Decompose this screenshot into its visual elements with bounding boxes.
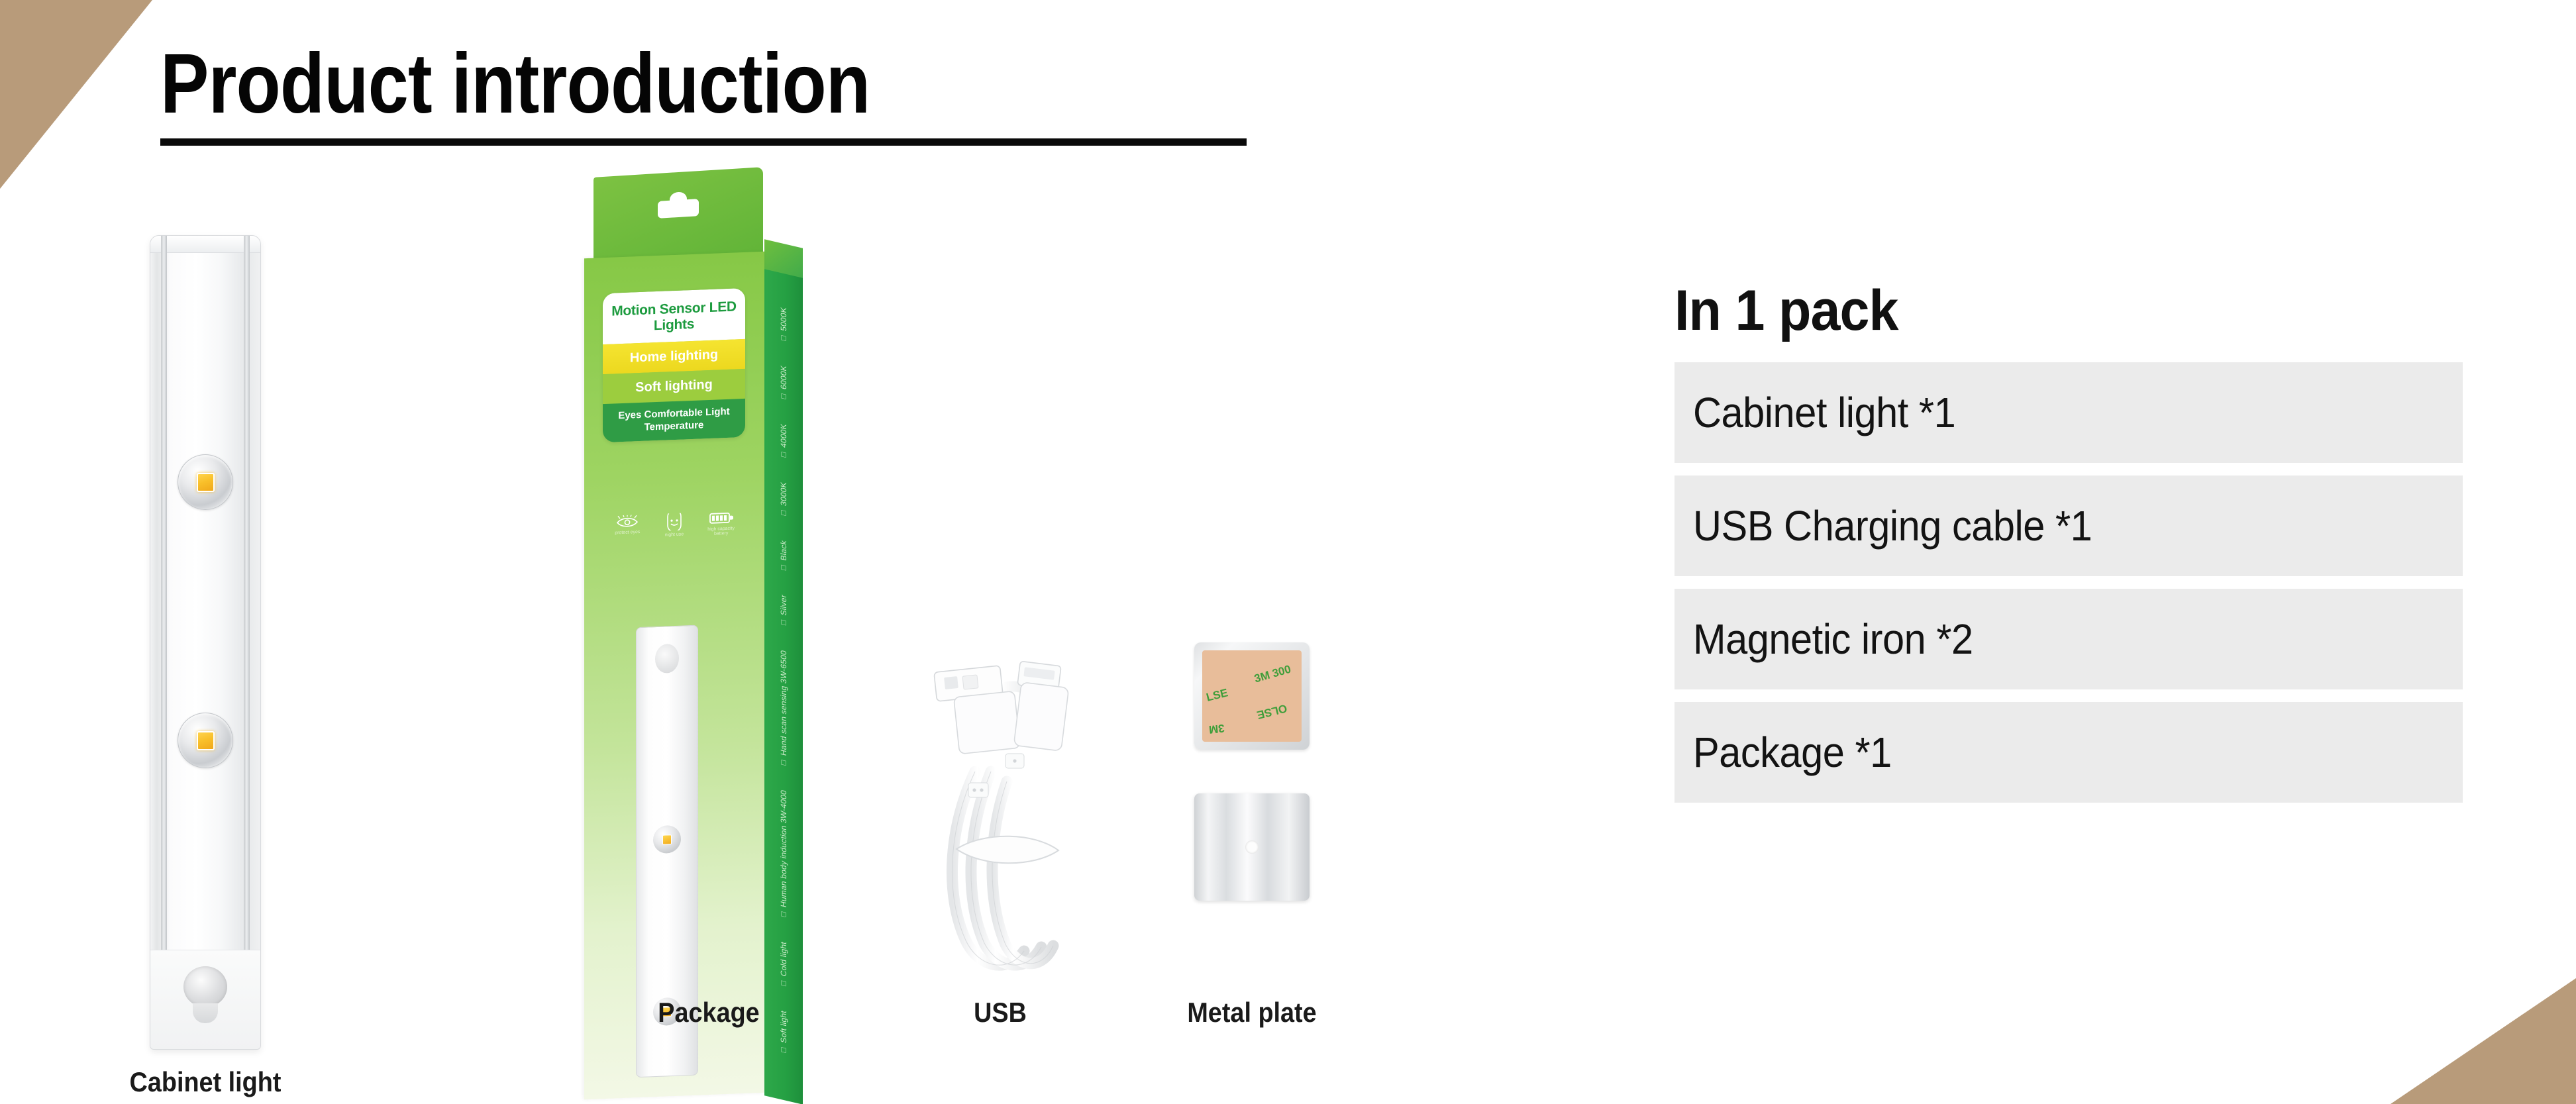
inner-pir-sensor-icon: [655, 644, 679, 674]
package-option-list: Soft light Cold light Human body inducti…: [764, 309, 803, 1079]
corner-accent-bottom-right: [2391, 978, 2576, 1104]
package-feature-icons: protect eyes night use: [604, 511, 745, 540]
battery-icon-caption: high capacity battery: [706, 526, 737, 536]
package-option: 3000K: [779, 481, 788, 519]
caption-metal-plate: Metal plate: [1145, 997, 1359, 1029]
eye-icon-caption: protect eyes: [612, 530, 643, 536]
product-usb-cable: USB: [881, 629, 1119, 1104]
product-package: Soft light Cold light Human body inducti…: [576, 166, 841, 1104]
pack-item-row: USB Charging cable *1: [1674, 476, 2463, 576]
adhesive-pad: 3M 300 LSE OLSE 3M: [1194, 642, 1310, 750]
hang-hole-icon: [658, 199, 699, 219]
package-option: Cold light: [779, 940, 788, 989]
adhesive-mark: 3M: [1208, 721, 1225, 736]
adhesive-surface: 3M 300 LSE OLSE 3M: [1202, 650, 1302, 742]
package-option: Human body induction 3W-4000: [779, 789, 788, 920]
led-chip-icon: [662, 834, 672, 845]
led-lens-upper: [178, 454, 233, 510]
corner-accent-top-left: [0, 0, 152, 189]
battery-icon: high capacity battery: [706, 511, 737, 536]
face-icon-caption: night use: [659, 532, 690, 538]
adhesive-mark: OLSE: [1255, 701, 1288, 722]
package-headline: Motion Sensor LED Lights: [603, 288, 745, 344]
pack-item-label: Package *1: [1693, 728, 1892, 777]
indicator-led-icon: [193, 1003, 218, 1023]
product-cabinet-light: Cabinet light: [86, 235, 325, 1104]
cabinet-light-body: [150, 235, 261, 1050]
inner-led-lens-upper: [653, 825, 681, 854]
caption-usb: USB: [893, 997, 1108, 1029]
package-option: Silver: [779, 594, 788, 629]
product-metal-plate: 3M 300 LSE OLSE 3M Metal plate: [1133, 629, 1371, 1104]
magnetic-metal-plate: [1194, 793, 1310, 901]
cabinet-light-rail-right: [244, 236, 250, 1049]
package-option: Hand scan sensing 3W-6500: [779, 649, 788, 768]
package-option: 6000K: [779, 364, 788, 402]
product-gallery: Cabinet light Soft light Cold light Huma…: [0, 166, 1523, 1093]
plate-center-hole: [1245, 840, 1259, 854]
led-lens-lower: [178, 713, 233, 768]
pack-item-row: Magnetic iron *2: [1674, 589, 2463, 689]
pack-item-label: USB Charging cable *1: [1693, 501, 2092, 550]
package-band-eyes-comfortable: Eyes Comfortable Light Temperature: [603, 399, 745, 442]
page-title-text: Product introduction: [160, 41, 1094, 128]
package-label-card: Motion Sensor LED Lights Home lighting S…: [603, 288, 745, 442]
in-pack-title: In 1 pack: [1674, 278, 2416, 344]
package-option: Black: [779, 539, 788, 574]
slide-canvas: Product introduction Cabinet: [0, 0, 2576, 1104]
eye-icon: protect eyes: [612, 515, 643, 536]
package-option: 5000K: [779, 307, 788, 344]
pack-item-label: Cabinet light *1: [1693, 388, 1955, 437]
motion-sensor-panel: [150, 950, 260, 1049]
adhesive-mark: 3M 300: [1253, 663, 1292, 686]
package-side-panel: Soft light Cold light Human body inducti…: [764, 269, 803, 1104]
title-underline: [160, 138, 1247, 146]
caption-package: Package: [590, 997, 828, 1029]
in-pack-panel: In 1 pack Cabinet light *1 USB Charging …: [1674, 278, 2463, 815]
pack-item-row: Package *1: [1674, 702, 2463, 803]
pack-item-row: Cabinet light *1: [1674, 362, 2463, 463]
usb-cable-icon: [901, 629, 1100, 1000]
pack-item-label: Magnetic iron *2: [1693, 615, 1973, 664]
face-icon: night use: [659, 513, 690, 538]
package-option: 4000K: [779, 423, 788, 460]
led-chip-icon: [197, 731, 215, 750]
pir-sensor-icon: [183, 966, 227, 1007]
caption-cabinet-light: Cabinet light: [98, 1066, 313, 1098]
led-chip-icon: [197, 473, 215, 492]
page-title: Product introduction: [160, 41, 1247, 146]
package-front-panel: Motion Sensor LED Lights Home lighting S…: [584, 252, 764, 1099]
adhesive-mark: LSE: [1205, 686, 1229, 704]
cabinet-light-rail-left: [161, 236, 167, 1049]
